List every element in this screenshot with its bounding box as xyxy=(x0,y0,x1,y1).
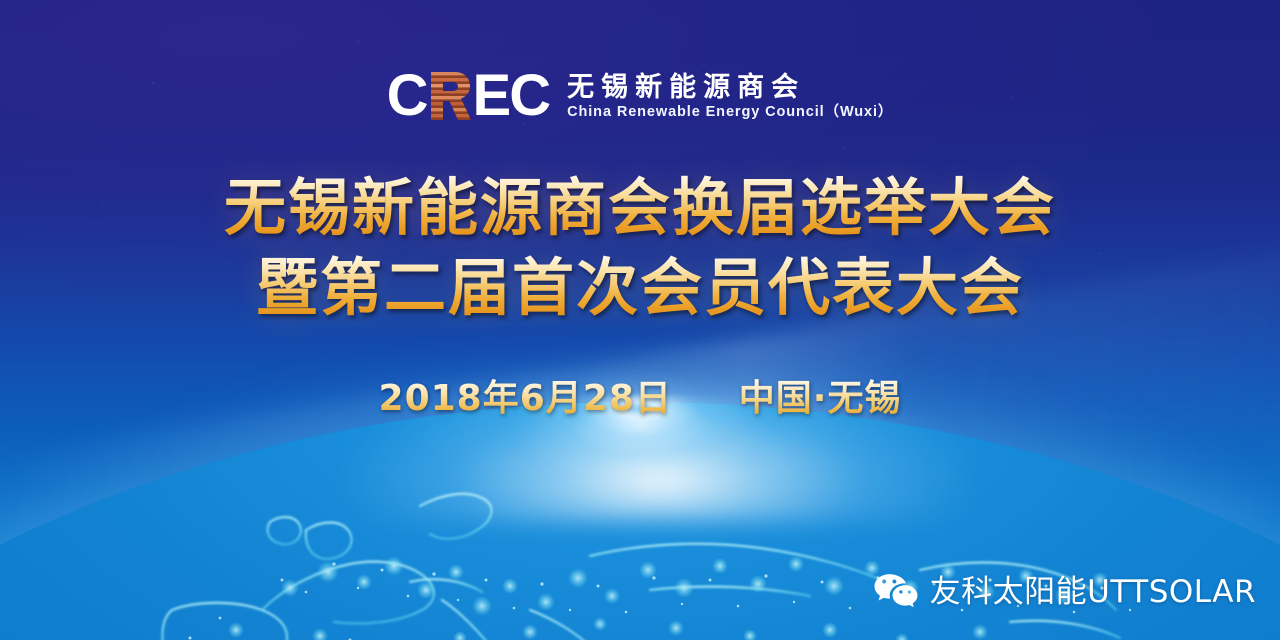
crec-logo-text: 无锡新能源商会 China Renewable Energy Council（W… xyxy=(567,71,893,121)
logo-letter-c2: C xyxy=(509,68,549,124)
wechat-watermark: 友科太阳能UTTSOLAR xyxy=(873,572,1256,612)
event-poster: C xyxy=(0,0,1280,640)
logo-name-en: China Renewable Energy Council（Wuxi） xyxy=(567,104,893,121)
logo-letter-r-solar xyxy=(428,70,472,122)
event-location: 中国·无锡 xyxy=(739,376,902,422)
crec-logo-mark: C xyxy=(387,68,549,124)
title-line-2: 暨第二届首次会员代表大会 xyxy=(0,248,1280,328)
crec-logo: C xyxy=(0,68,1280,124)
logo-letter-c1: C xyxy=(387,68,427,124)
poster-title: 无锡新能源商会换届选举大会 暨第二届首次会员代表大会 xyxy=(0,168,1280,328)
event-date: 2018年6月28日 xyxy=(379,376,672,422)
wechat-icon xyxy=(873,572,919,612)
event-meta: 2018年6月28日 中国·无锡 xyxy=(0,376,1280,422)
watermark-label: 友科太阳能UTTSOLAR xyxy=(930,577,1256,608)
logo-name-cn: 无锡新能源商会 xyxy=(567,73,893,102)
title-line-1: 无锡新能源商会换届选举大会 xyxy=(0,168,1280,248)
logo-letter-e: E xyxy=(473,68,510,124)
